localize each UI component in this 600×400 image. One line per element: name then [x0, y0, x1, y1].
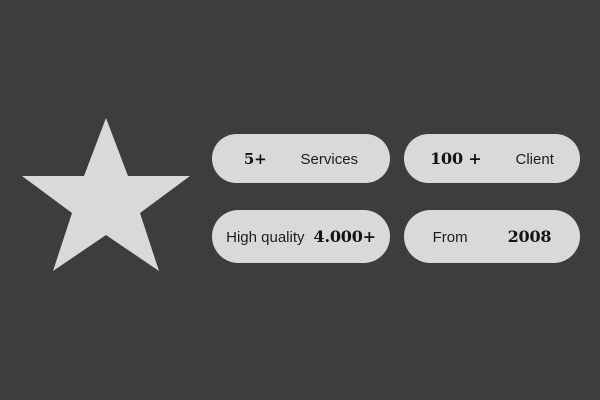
stat-value-quality: 4.000+ [314, 227, 376, 246]
star-icon [20, 114, 192, 272]
stat-pill-year[interactable]: From 2008 [404, 210, 580, 263]
stats-banner: 5+ Services 100 + Client High quality 4.… [0, 0, 600, 400]
stat-label-services: Services [301, 151, 359, 168]
star-polygon [22, 118, 190, 271]
stat-value-client: 100 + [430, 149, 481, 168]
stat-pill-client[interactable]: 100 + Client [404, 134, 580, 183]
stat-value-year: 2008 [508, 227, 552, 246]
stat-label-quality: High quality [226, 229, 304, 246]
stat-pill-services[interactable]: 5+ Services [212, 134, 390, 183]
stat-label-client: Client [516, 151, 554, 168]
stat-value-services: 5+ [244, 150, 267, 168]
stat-pill-quality[interactable]: High quality 4.000+ [212, 210, 390, 263]
stat-label-year: From [433, 229, 468, 246]
stats-pill-grid: 5+ Services 100 + Client High quality 4.… [212, 134, 580, 263]
